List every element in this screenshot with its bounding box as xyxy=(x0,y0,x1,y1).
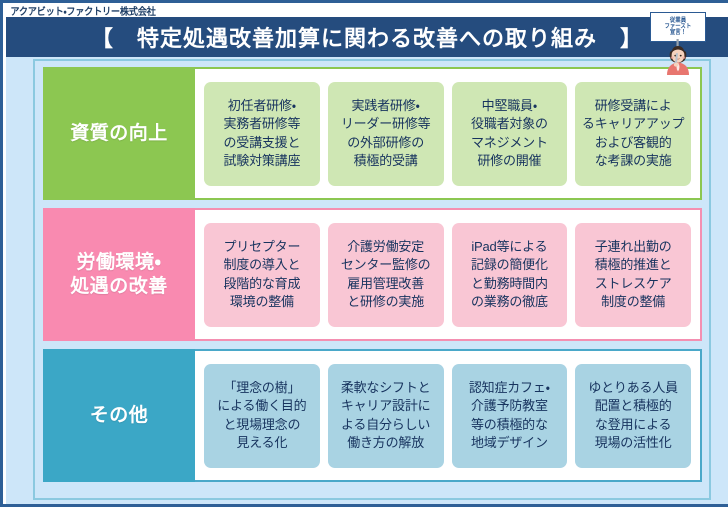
cards-panel-quality: 初任者研修・ 実務者研修等 の受講支援と 試験対策講座 実践者研修・ リーダー研… xyxy=(195,67,702,200)
initiative-card-text: 柔軟なシフトと キャリア設計に よる自分らしい 働き方の解放 xyxy=(341,379,431,453)
mascot-badge: 従業員 ファースト 宣言！ xyxy=(648,12,708,74)
cards-panel-others: 「理念の樹」 による働く目的 と現場理念の 見える化 柔軟なシフトと キャリア設… xyxy=(195,349,702,482)
initiative-card-text: 中堅職員・ 役職者対象の マネジメント 研修の開催 xyxy=(471,97,548,171)
cards-panel-work-environment: プリセプター 制度の導入と 段階的な育成 環境の整備 介護労働安定 センター監修… xyxy=(195,208,702,341)
initiative-card[interactable]: iPad等による 記録の簡便化 と勤務時間内 の業務の徹底 xyxy=(452,223,568,327)
initiative-card-text: 介護労働安定 センター監修の 雇用管理改善 と研修の実施 xyxy=(341,238,431,312)
category-rows: 資質の向上 初任者研修・ 実務者研修等 の受講支援と 試験対策講座 実践者研修・… xyxy=(43,67,702,494)
initiative-card-text: 研修受講によ るキャリアアップ および客観的 な考課の実施 xyxy=(582,97,684,171)
title-bar: 【 特定処遇改善加算に関わる改善への取り組み 】 xyxy=(6,17,728,57)
initiative-card[interactable]: 認知症カフェ・ 介護予防教室 等の積極的な 地域デザイン xyxy=(452,364,568,468)
company-name: アクアビット・ファクトリー株式会社 xyxy=(3,3,156,18)
initiative-card-text: プリセプター 制度の導入と 段階的な育成 環境の整備 xyxy=(223,238,300,312)
mascot-figure-icon xyxy=(648,39,708,75)
initiative-card-text: 初任者研修・ 実務者研修等 の受講支援と 試験対策講座 xyxy=(223,97,300,171)
mascot-sign-line3: 宣言！ xyxy=(670,30,686,36)
category-label-text: 労働環境・ 処遇の改善 xyxy=(70,251,168,299)
category-row-quality: 資質の向上 初任者研修・ 実務者研修等 の受講支援と 試験対策講座 実践者研修・… xyxy=(43,67,702,200)
initiative-card-text: 実践者研修・ リーダー研修等 の外部研修の 積極的受講 xyxy=(341,97,431,171)
initiative-card[interactable]: 子連れ出勤の 積極的推進と ストレスケア 制度の整備 xyxy=(575,223,691,327)
mascot-sign: 従業員 ファースト 宣言！ xyxy=(650,12,706,42)
initiative-card[interactable]: 実践者研修・ リーダー研修等 の外部研修の 積極的受講 xyxy=(328,82,444,186)
category-label-others: その他 xyxy=(43,349,195,482)
initiative-card[interactable]: 「理念の樹」 による働く目的 と現場理念の 見える化 xyxy=(204,364,320,468)
initiative-card[interactable]: 初任者研修・ 実務者研修等 の受講支援と 試験対策講座 xyxy=(204,82,320,186)
category-label-text: 資質の向上 xyxy=(70,122,168,146)
initiative-card[interactable]: 研修受講によ るキャリアアップ および客観的 な考課の実施 xyxy=(575,82,691,186)
initiative-card[interactable]: プリセプター 制度の導入と 段階的な育成 環境の整備 xyxy=(204,223,320,327)
initiative-card[interactable]: ゆとりある人員 配置と積極的 な登用による 現場の活性化 xyxy=(575,364,691,468)
initiative-card-text: ゆとりある人員 配置と積極的 な登用による 現場の活性化 xyxy=(588,379,678,453)
category-label-work-environment: 労働環境・ 処遇の改善 xyxy=(43,208,195,341)
category-row-others: その他 「理念の樹」 による働く目的 と現場理念の 見える化 柔軟なシフトと キ… xyxy=(43,349,702,482)
initiative-card[interactable]: 柔軟なシフトと キャリア設計に よる自分らしい 働き方の解放 xyxy=(328,364,444,468)
initiative-card[interactable]: 介護労働安定 センター監修の 雇用管理改善 と研修の実施 xyxy=(328,223,444,327)
category-row-work-environment: 労働環境・ 処遇の改善 プリセプター 制度の導入と 段階的な育成 環境の整備 介… xyxy=(43,208,702,341)
slide-root: アクアビット・ファクトリー株式会社 【 特定処遇改善加算に関わる改善への取り組み… xyxy=(0,0,728,507)
page-title: 【 特定処遇改善加算に関わる改善への取り組み 】 xyxy=(91,21,643,53)
category-label-text: その他 xyxy=(90,404,149,428)
initiative-card-text: iPad等による 記録の簡便化 と勤務時間内 の業務の徹底 xyxy=(471,238,548,312)
initiative-card-text: 「理念の樹」 による働く目的 と現場理念の 見える化 xyxy=(217,379,306,453)
initiative-card-text: 認知症カフェ・ 介護予防教室 等の積極的な 地域デザイン xyxy=(469,379,550,453)
initiative-card-text: 子連れ出勤の 積極的推進と ストレスケア 制度の整備 xyxy=(595,238,672,312)
company-header: アクアビット・ファクトリー株式会社 xyxy=(3,0,728,17)
category-label-quality: 資質の向上 xyxy=(43,67,195,200)
initiative-card[interactable]: 中堅職員・ 役職者対象の マネジメント 研修の開催 xyxy=(452,82,568,186)
